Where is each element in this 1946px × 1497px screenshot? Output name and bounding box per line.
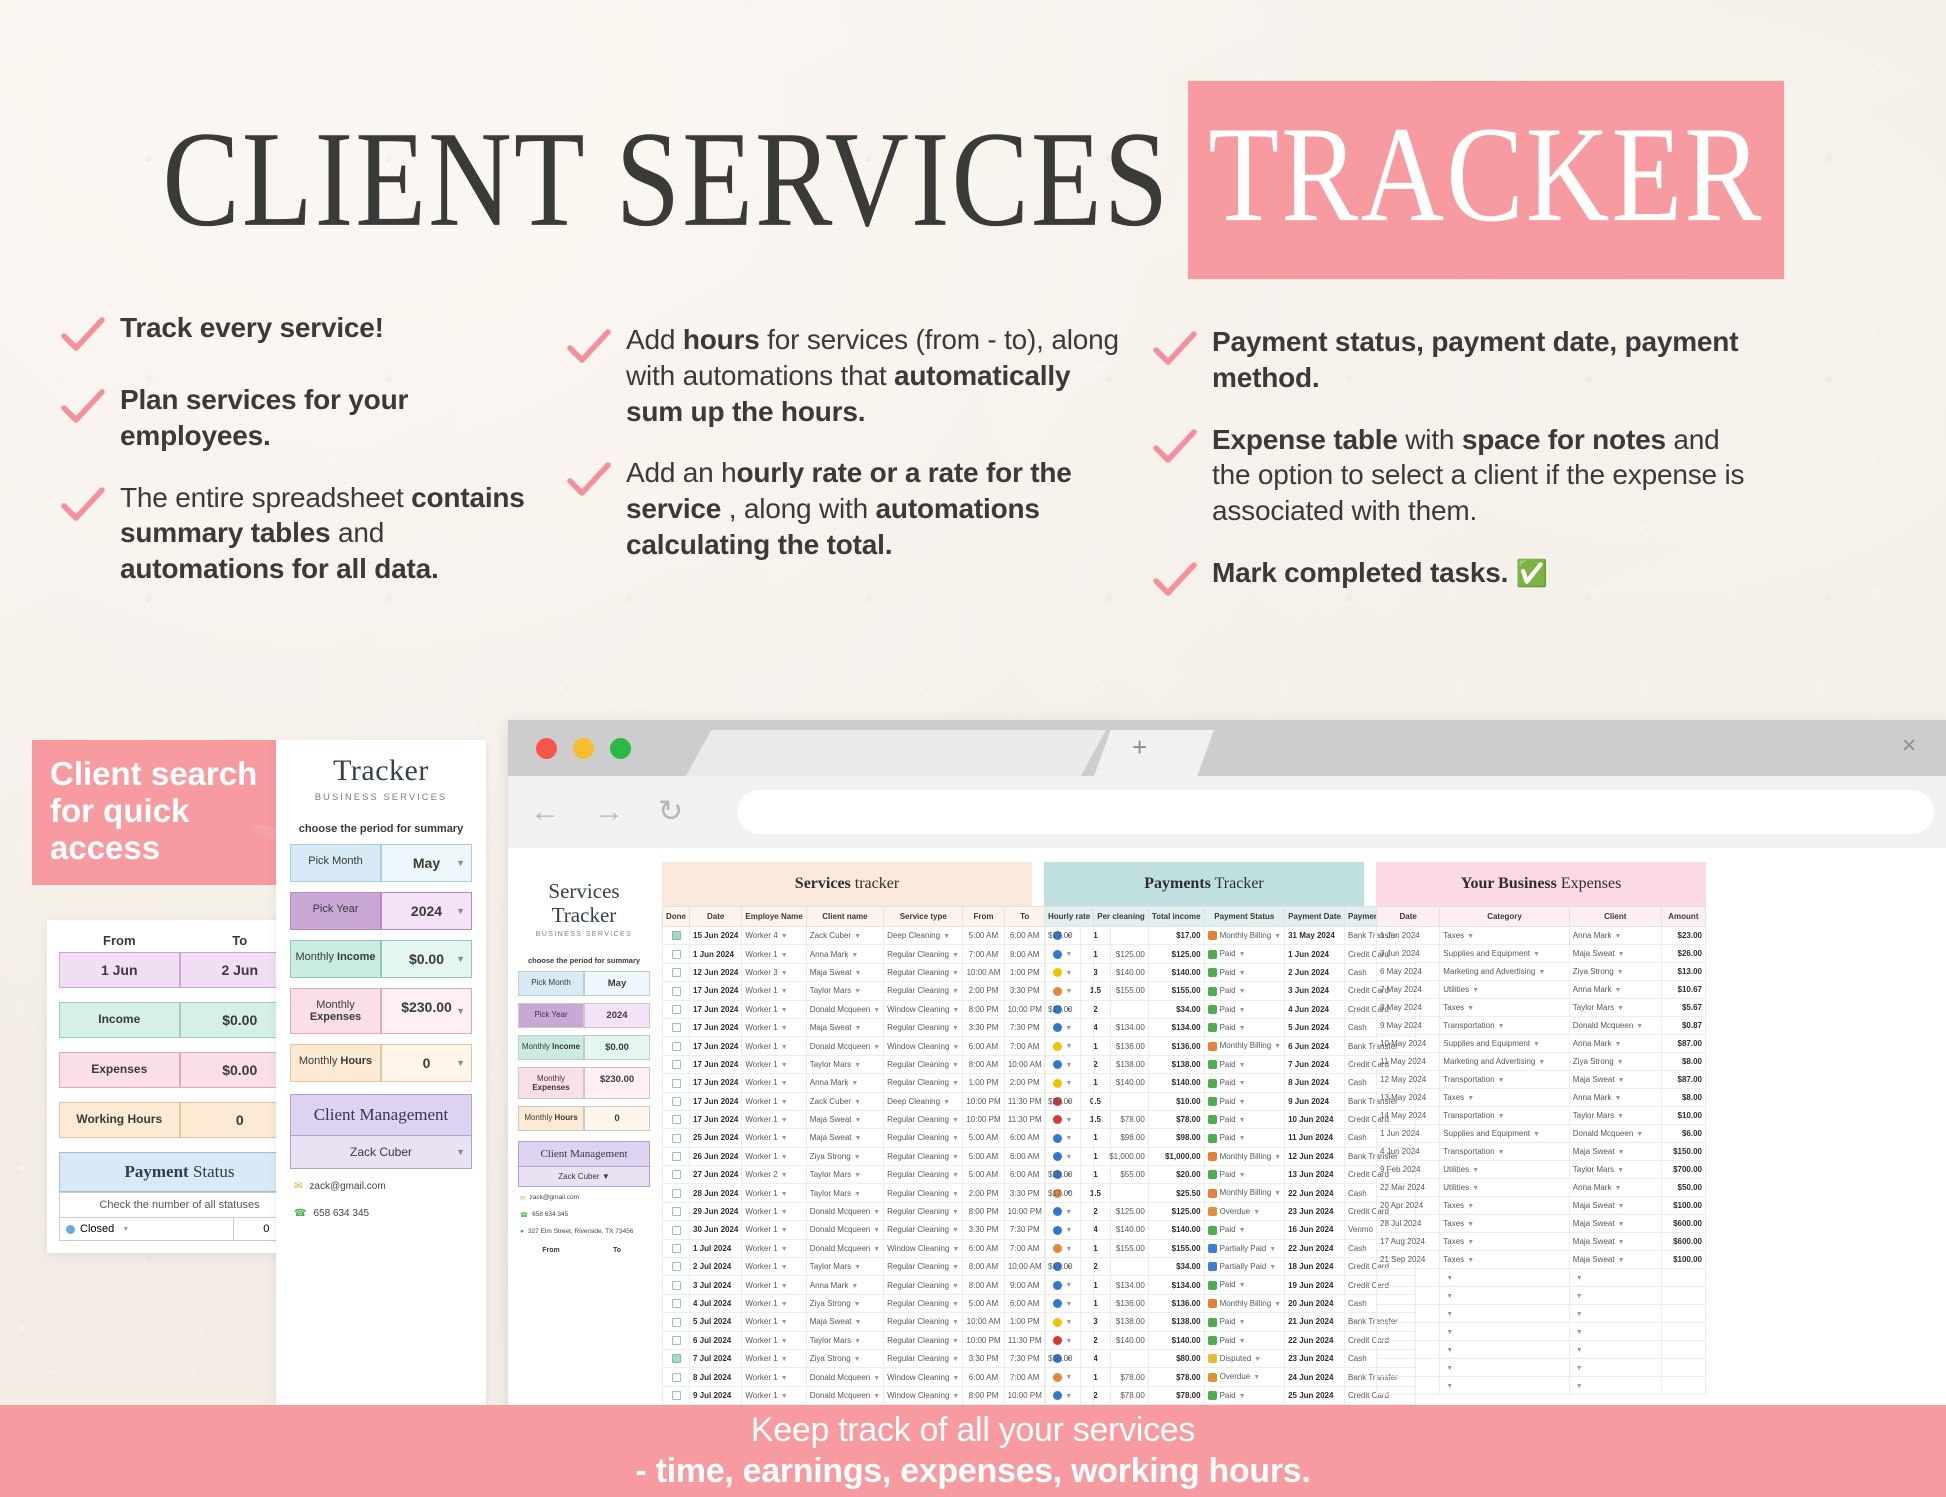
table-row[interactable]: ▼▼ — [1377, 1269, 1706, 1287]
employee-name[interactable]: Worker 1▼ — [742, 1092, 806, 1110]
service-type[interactable]: Regular Cleaning▼ — [884, 1221, 963, 1239]
status-badge-icon — [1208, 1097, 1217, 1106]
employee-name[interactable]: Worker 1▼ — [742, 1221, 806, 1239]
expenses-table-title: Your Business Expenses — [1376, 862, 1706, 906]
table-row[interactable]: 13 May 2024Taxes▼Anna Mark▼$8.00 — [1377, 1089, 1706, 1107]
employee-name[interactable]: Worker 1▼ — [742, 945, 806, 963]
table-row[interactable]: $30.00$80.00Disputed▼23 Jun 2024Cash — [1045, 1349, 1416, 1367]
client-name[interactable]: Taylor Mars▼ — [806, 982, 883, 1000]
done-checkbox[interactable] — [663, 1202, 690, 1220]
employee-name[interactable]: Worker 2▼ — [742, 1166, 806, 1184]
payment-date: 9 Jun 2024 — [1285, 1092, 1345, 1110]
client-name[interactable]: Donald Mcqueen▼ — [806, 1000, 883, 1018]
tracker-row-label: Monthly Income — [290, 940, 381, 978]
client-name[interactable]: Taylor Mars▼ — [806, 1331, 883, 1349]
payment-status[interactable]: Paid▼ — [1204, 1386, 1285, 1404]
table-row[interactable]: $78.00$78.00Paid▼10 Jun 2024Credit Card — [1045, 1110, 1416, 1128]
employee-name[interactable]: Worker 1▼ — [742, 982, 806, 1000]
hourly-rate — [1045, 1331, 1094, 1349]
table-row[interactable]: $17.00$17.00Monthly Billing▼31 May 2024B… — [1045, 927, 1416, 945]
new-tab-icon[interactable]: + — [1132, 732, 1147, 763]
service-date: 2 Jul 2024 — [690, 1258, 742, 1276]
payment-date: 18 Jun 2024 — [1285, 1258, 1345, 1276]
done-checkbox[interactable] — [663, 1018, 690, 1036]
time-to: 6:00 AM — [1004, 1147, 1045, 1165]
expense-client[interactable]: Ziya Strong▼ — [1569, 1053, 1661, 1071]
employee-name[interactable]: Worker 4▼ — [742, 927, 806, 945]
expense-category[interactable]: Transportation▼ — [1440, 1107, 1570, 1125]
done-checkbox[interactable] — [663, 1239, 690, 1257]
employee-name[interactable]: Worker 1▼ — [742, 1313, 806, 1331]
done-checkbox[interactable] — [663, 963, 690, 981]
expense-category[interactable]: Transportation▼ — [1440, 1143, 1570, 1161]
client-name[interactable]: Taylor Mars▼ — [806, 1258, 883, 1276]
service-type[interactable]: Regular Cleaning▼ — [884, 982, 963, 1000]
service-date: 5 Jul 2024 — [690, 1313, 742, 1331]
employee-name[interactable]: Worker 3▼ — [742, 963, 806, 981]
payment-date: 19 Jun 2024 — [1285, 1276, 1345, 1294]
status-badge-icon — [1208, 1207, 1217, 1216]
table-row[interactable]: $140.00$140.00Paid▼2 Jun 2024Cash — [1045, 963, 1416, 981]
done-checkbox[interactable] — [663, 982, 690, 1000]
table-row[interactable]: ▼▼ — [1377, 1323, 1706, 1341]
table-row[interactable]: $125.00$125.00Paid▼1 Jun 2024Credit Card — [1045, 945, 1416, 963]
employee-name[interactable]: Worker 1▼ — [742, 1276, 806, 1294]
time-from: 7:00 AM — [963, 945, 1004, 963]
chevron-down-icon[interactable]: ▼ — [122, 1226, 129, 1233]
done-checkbox[interactable] — [663, 1147, 690, 1165]
expense-client[interactable]: Maja Sweat▼ — [1569, 1251, 1661, 1269]
payment-status[interactable]: Paid▼ — [1204, 963, 1285, 981]
employee-name[interactable]: Worker 1▼ — [742, 1294, 806, 1312]
service-type[interactable]: Window Cleaning▼ — [884, 1000, 963, 1018]
payment-status[interactable]: Paid▼ — [1204, 1000, 1285, 1018]
service-type[interactable]: Window Cleaning▼ — [884, 1037, 963, 1055]
table-row[interactable]: 14 May 2024Transportation▼Taylor Mars▼$1… — [1377, 1107, 1706, 1125]
payment-status[interactable]: Overdue▼ — [1204, 1202, 1285, 1220]
payment-status[interactable]: Paid▼ — [1204, 1166, 1285, 1184]
table-row[interactable]: $140.00$140.00Paid▼22 Jun 2024Credit Car… — [1045, 1331, 1416, 1349]
table-row[interactable]: 12 May 2024Transportation▼Maja Sweat▼$87… — [1377, 1071, 1706, 1089]
table-row[interactable]: $20.00$55.00$20.00Paid▼13 Jun 2024Credit… — [1045, 1166, 1416, 1184]
client-name[interactable]: Anna Mark▼ — [806, 1074, 883, 1092]
close-tab-icon[interactable]: × — [1902, 732, 1916, 760]
payment-status[interactable]: Partially Paid▼ — [1204, 1258, 1285, 1276]
expense-client[interactable]: Taylor Mars▼ — [1569, 1107, 1661, 1125]
done-checkbox[interactable] — [663, 1276, 690, 1294]
client-name[interactable]: Zack Cuber▼ — [806, 1092, 883, 1110]
expense-client[interactable]: Ziya Strong▼ — [1569, 963, 1661, 981]
done-checkbox[interactable] — [663, 1000, 690, 1018]
done-checkbox[interactable] — [663, 1074, 690, 1092]
expense-date: 8 May 2024 — [1377, 999, 1440, 1017]
service-type[interactable]: Regular Cleaning▼ — [884, 1110, 963, 1128]
payment-date: 24 Jun 2024 — [1285, 1368, 1345, 1386]
expense-client[interactable]: Taylor Mars▼ — [1569, 1161, 1661, 1179]
client-name[interactable]: Maja Sweat▼ — [806, 1110, 883, 1128]
expense-category[interactable]: Taxes▼ — [1440, 1089, 1570, 1107]
time-from: 8:00 AM — [963, 1258, 1004, 1276]
employee-name[interactable]: Worker 1▼ — [742, 1349, 806, 1367]
done-checkbox[interactable] — [663, 1055, 690, 1073]
done-checkbox[interactable] — [663, 1184, 690, 1202]
payment-status[interactable]: Paid▼ — [1204, 1221, 1285, 1239]
time-from: 8:00 AM — [963, 1055, 1004, 1073]
total-income: $134.00 — [1148, 1276, 1204, 1294]
table-row[interactable]: ▼▼ — [1377, 1377, 1706, 1395]
employee-name[interactable]: Worker 1▼ — [742, 1202, 806, 1220]
done-checkbox[interactable] — [663, 1037, 690, 1055]
table-row[interactable]: $17.00$34.00Partially Paid▼18 Jun 2024Cr… — [1045, 1258, 1416, 1276]
payment-status[interactable]: Monthly Billing▼ — [1204, 927, 1285, 945]
table-row[interactable]: 9 May 2024Transportation▼Donald Mcqueen▼… — [1377, 1017, 1706, 1035]
payment-status[interactable]: Paid▼ — [1204, 1110, 1285, 1128]
payment-date: 16 Jun 2024 — [1285, 1221, 1345, 1239]
total-income: $98.00 — [1148, 1129, 1204, 1147]
mini-client-management-title: Client Management — [518, 1141, 650, 1167]
table-row[interactable]: $17.00$34.00Paid▼4 Jun 2024Credit Card — [1045, 1000, 1416, 1018]
done-checkbox[interactable] — [663, 1110, 690, 1128]
expense-category[interactable]: Taxes▼ — [1440, 1197, 1570, 1215]
table-row[interactable]: 8 May 2024Taxes▼Taylor Mars▼$5.67 — [1377, 999, 1706, 1017]
service-type[interactable]: Regular Cleaning▼ — [884, 1074, 963, 1092]
payment-status[interactable]: Paid▼ — [1204, 1129, 1285, 1147]
total-income: $34.00 — [1148, 1258, 1204, 1276]
forward-icon[interactable]: → — [594, 797, 624, 827]
feature-text: Payment status, payment date, payment me… — [1212, 324, 1752, 396]
service-type[interactable]: Window Cleaning▼ — [884, 1239, 963, 1257]
payment-status[interactable]: Disputed▼ — [1204, 1349, 1285, 1367]
expense-client[interactable]: Anna Mark▼ — [1569, 927, 1661, 945]
done-checkbox[interactable] — [663, 1368, 690, 1386]
table-row[interactable]: 4 Jun 2024Transportation▼Maja Sweat▼$150… — [1377, 1143, 1706, 1161]
service-type[interactable]: Regular Cleaning▼ — [884, 1331, 963, 1349]
payment-status[interactable]: Paid▼ — [1204, 1276, 1285, 1294]
payment-status[interactable]: Paid▼ — [1204, 1074, 1285, 1092]
summary-from-value[interactable]: 1 Jun — [59, 952, 180, 988]
hourly-rate: $30.00 — [1045, 1349, 1094, 1367]
time-to: 7:00 AM — [1004, 1037, 1045, 1055]
service-type[interactable]: Regular Cleaning▼ — [884, 945, 963, 963]
table-row[interactable]: 1 Jun 2024Supplies and Equipment▼Donald … — [1377, 1125, 1706, 1143]
table-row[interactable]: $20.00$10.00Paid▼9 Jun 2024Bank Transfer — [1045, 1092, 1416, 1110]
service-date: 3 Jul 2024 — [690, 1276, 742, 1294]
service-type[interactable]: Window Cleaning▼ — [884, 1386, 963, 1404]
table-row[interactable]: $134.00$134.00Paid▼19 Jun 2024Credit Car… — [1045, 1276, 1416, 1294]
expense-category[interactable]: Utilities▼ — [1440, 981, 1570, 999]
expense-category[interactable]: Marketing and Advertising▼ — [1440, 1053, 1570, 1071]
table-row[interactable]: $155.00$155.00Paid▼3 Jun 2024Credit Card — [1045, 982, 1416, 1000]
done-checkbox[interactable] — [663, 1129, 690, 1147]
service-type[interactable]: Deep Cleaning▼ — [884, 927, 963, 945]
check-icon — [566, 461, 612, 501]
employee-name[interactable]: Worker 1▼ — [742, 1018, 806, 1036]
status-badge-icon — [1208, 1336, 1217, 1345]
expense-category[interactable]: Utilities▼ — [1440, 1179, 1570, 1197]
payment-status[interactable]: Monthly Billing▼ — [1204, 1037, 1285, 1055]
payment-status[interactable]: Monthly Billing▼ — [1204, 1294, 1285, 1312]
service-type[interactable]: Regular Cleaning▼ — [884, 1258, 963, 1276]
payment-status[interactable]: Monthly Billing▼ — [1204, 1184, 1285, 1202]
client-name[interactable]: Ziya Strong▼ — [806, 1294, 883, 1312]
table-row[interactable]: 1 Jun 2024Taxes▼Anna Mark▼$23.00 — [1377, 927, 1706, 945]
done-checkbox[interactable] — [663, 1092, 690, 1110]
table-row[interactable]: 22 Mar 2024Utilities▼Anna Mark▼$50.00 — [1377, 1179, 1706, 1197]
employee-name[interactable]: Worker 1▼ — [742, 1000, 806, 1018]
payment-date: 21 Jun 2024 — [1285, 1313, 1345, 1331]
client-name[interactable]: Anna Mark▼ — [806, 1276, 883, 1294]
time-from: 10:00 AM — [963, 963, 1004, 981]
done-checkbox[interactable] — [663, 927, 690, 945]
tracker-row: Monthly Income$0.00▼ — [290, 940, 472, 978]
client-name[interactable]: Donald Mcqueen▼ — [806, 1202, 883, 1220]
per-cleaning: $155.00 — [1094, 1239, 1149, 1257]
table-row[interactable]: 10 May 2024Supplies and Equipment▼Anna M… — [1377, 1035, 1706, 1053]
done-checkbox[interactable] — [663, 1313, 690, 1331]
expense-client[interactable]: Anna Mark▼ — [1569, 981, 1661, 999]
close-window-icon[interactable] — [536, 738, 557, 759]
status-badge-icon — [1208, 1318, 1217, 1327]
expense-date: 12 May 2024 — [1377, 1071, 1440, 1089]
done-checkbox[interactable] — [663, 945, 690, 963]
done-checkbox[interactable] — [663, 1258, 690, 1276]
table-row[interactable]: $155.00$155.00Partially Paid▼22 Jun 2024… — [1045, 1239, 1416, 1257]
service-type[interactable]: Regular Cleaning▼ — [884, 1202, 963, 1220]
expense-client[interactable]: Taylor Mars▼ — [1569, 999, 1661, 1017]
time-to: 3:30 PM — [1004, 1184, 1045, 1202]
per-cleaning: $1,000.00 — [1094, 1147, 1149, 1165]
minimize-window-icon[interactable] — [573, 738, 594, 759]
payment-status[interactable]: Monthly Billing▼ — [1204, 1147, 1285, 1165]
employee-name[interactable]: Worker 1▼ — [742, 1386, 806, 1404]
employee-name[interactable]: Worker 1▼ — [742, 1147, 806, 1165]
expense-amount: $150.00 — [1661, 1143, 1705, 1161]
expense-category[interactable]: Transportation▼ — [1440, 1071, 1570, 1089]
payment-status[interactable]: Paid▼ — [1204, 945, 1285, 963]
employee-name[interactable]: Worker 1▼ — [742, 1055, 806, 1073]
time-from: 10:00 PM — [963, 1110, 1004, 1128]
payment-status[interactable]: Paid▼ — [1204, 1018, 1285, 1036]
expense-category[interactable]: Taxes▼ — [1440, 999, 1570, 1017]
service-type[interactable]: Window Cleaning▼ — [884, 1368, 963, 1386]
table-row[interactable]: 20 Apr 2024Taxes▼Maja Sweat▼$100.00 — [1377, 1197, 1706, 1215]
table-row[interactable]: ▼▼ — [1377, 1287, 1706, 1305]
employee-name[interactable]: Worker 1▼ — [742, 1074, 806, 1092]
payment-status[interactable]: Overdue▼ — [1204, 1368, 1285, 1386]
client-name[interactable]: Donald Mcqueen▼ — [806, 1386, 883, 1404]
expense-client[interactable]: Donald Mcqueen▼ — [1569, 1125, 1661, 1143]
mini-title: ServicesTracker — [518, 880, 650, 927]
employee-name[interactable]: Worker 1▼ — [742, 1258, 806, 1276]
done-checkbox[interactable] — [663, 1166, 690, 1184]
expense-category[interactable]: Marketing and Advertising▼ — [1440, 963, 1570, 981]
table-row[interactable]: ▼▼ — [1377, 1359, 1706, 1377]
expense-client[interactable]: Anna Mark▼ — [1569, 1089, 1661, 1107]
total-income: $134.00 — [1148, 1018, 1204, 1036]
table-row[interactable]: 3 Jun 2024Supplies and Equipment▼Maja Sw… — [1377, 945, 1706, 963]
table-row[interactable]: $136.00$136.00Monthly Billing▼6 Jun 2024… — [1045, 1037, 1416, 1055]
table-row[interactable]: 7 May 2024Utilities▼Anna Mark▼$10.67 — [1377, 981, 1706, 999]
check-icon — [1152, 561, 1198, 601]
table-row[interactable]: $138.00$138.00Paid▼7 Jun 2024Credit Card — [1045, 1055, 1416, 1073]
service-type[interactable]: Regular Cleaning▼ — [884, 963, 963, 981]
expense-category[interactable]: Transportation▼ — [1440, 1017, 1570, 1035]
table-row[interactable]: $78.00$78.00Overdue▼24 Jun 2024Bank Tran… — [1045, 1368, 1416, 1386]
client-name[interactable]: Maja Sweat▼ — [806, 1129, 883, 1147]
tracker-row-value[interactable]: $230.00▼ — [381, 988, 472, 1034]
done-checkbox[interactable] — [663, 1349, 690, 1367]
expense-category[interactable]: Taxes▼ — [1440, 1233, 1570, 1251]
column-header: Client name — [806, 907, 883, 927]
service-type[interactable]: Regular Cleaning▼ — [884, 1184, 963, 1202]
client-name[interactable]: Taylor Mars▼ — [806, 1166, 883, 1184]
service-type[interactable]: Regular Cleaning▼ — [884, 1313, 963, 1331]
employee-name[interactable]: Worker 1▼ — [742, 1239, 806, 1257]
feature-text: Expense table with space for notes and t… — [1212, 422, 1752, 529]
client-name[interactable]: Donald Mcqueen▼ — [806, 1037, 883, 1055]
expense-category[interactable]: Supplies and Equipment▼ — [1440, 945, 1570, 963]
table-row[interactable]: $1,000.00$1,000.00Monthly Billing▼12 Jun… — [1045, 1147, 1416, 1165]
expense-category[interactable]: Taxes▼ — [1440, 1215, 1570, 1233]
expense-client[interactable]: Maja Sweat▼ — [1569, 1197, 1661, 1215]
new-tab-shape[interactable] — [1094, 730, 1214, 776]
employee-name[interactable]: Worker 1▼ — [742, 1110, 806, 1128]
table-row[interactable]: 17 Aug 2024Taxes▼Maja Sweat▼$600.00 — [1377, 1233, 1706, 1251]
tracker-row-value[interactable]: May▼ — [381, 844, 472, 882]
expense-category[interactable]: Taxes▼ — [1440, 1251, 1570, 1269]
browser-tab[interactable] — [686, 730, 1106, 776]
client-select[interactable]: Zack Cuber▼ — [290, 1136, 472, 1169]
tracker-row-value[interactable]: $0.00▼ — [381, 940, 472, 978]
service-type[interactable]: Regular Cleaning▼ — [884, 1129, 963, 1147]
payment-date: 23 Jun 2024 — [1285, 1202, 1345, 1220]
table-row[interactable]: 28 Jul 2024Taxes▼Maja Sweat▼$600.00 — [1377, 1215, 1706, 1233]
expense-client[interactable]: Anna Mark▼ — [1569, 1035, 1661, 1053]
client-name[interactable]: Taylor Mars▼ — [806, 1184, 883, 1202]
table-row[interactable]: ▼▼ — [1377, 1341, 1706, 1359]
client-name[interactable]: Ziya Strong▼ — [806, 1147, 883, 1165]
expense-category[interactable]: Supplies and Equipment▼ — [1440, 1125, 1570, 1143]
payment-status[interactable]: Partially Paid▼ — [1204, 1239, 1285, 1257]
table-row[interactable]: 9 Feb 2024Utilities▼Taylor Mars▼$700.00 — [1377, 1161, 1706, 1179]
address-bar[interactable] — [737, 790, 1934, 834]
expense-category[interactable]: Utilities▼ — [1440, 1161, 1570, 1179]
payment-status[interactable]: Paid▼ — [1204, 1331, 1285, 1349]
client-name[interactable]: Taylor Mars▼ — [806, 1055, 883, 1073]
mini-client-select[interactable]: Zack Cuber ▼ — [518, 1167, 650, 1187]
service-date: 4 Jul 2024 — [690, 1294, 742, 1312]
client-name[interactable]: Maja Sweat▼ — [806, 963, 883, 981]
done-checkbox[interactable] — [663, 1331, 690, 1349]
service-type[interactable]: Regular Cleaning▼ — [884, 1147, 963, 1165]
hourly-rate: $17.00 — [1045, 927, 1094, 945]
tracker-row-value[interactable]: 2024▼ — [381, 892, 472, 930]
table-row[interactable]: 21 Sep 2024Taxes▼Maja Sweat▼$100.00 — [1377, 1251, 1706, 1269]
table-row[interactable]: ▼▼ — [1377, 1305, 1706, 1323]
tracker-row-value[interactable]: 0▼ — [381, 1044, 472, 1082]
expense-category[interactable]: Supplies and Equipment▼ — [1440, 1035, 1570, 1053]
service-type[interactable]: Regular Cleaning▼ — [884, 1276, 963, 1294]
client-name[interactable]: Donald Mcqueen▼ — [806, 1368, 883, 1386]
service-type[interactable]: Regular Cleaning▼ — [884, 1055, 963, 1073]
status-badge-icon — [1208, 1115, 1217, 1124]
table-row[interactable]: $138.00$138.00Paid▼21 Jun 2024Bank Trans… — [1045, 1313, 1416, 1331]
expense-amount: $8.00 — [1661, 1089, 1705, 1107]
hourly-rate: $17.00 — [1045, 1258, 1094, 1276]
employee-name[interactable]: Worker 1▼ — [742, 1129, 806, 1147]
time-from: 8:00 PM — [963, 1000, 1004, 1018]
back-icon[interactable]: ← — [530, 797, 560, 827]
payment-status[interactable]: Paid▼ — [1204, 1055, 1285, 1073]
done-checkbox[interactable] — [663, 1221, 690, 1239]
expense-category[interactable]: Taxes▼ — [1440, 927, 1570, 945]
table-row[interactable]: $136.00$136.00Monthly Billing▼20 Jun 202… — [1045, 1294, 1416, 1312]
table-row[interactable]: $78.00$78.00Paid▼25 Jun 2024Credit Card — [1045, 1386, 1416, 1404]
maximize-window-icon[interactable] — [610, 738, 631, 759]
table-row[interactable]: $125.00$125.00Overdue▼23 Jun 2024Credit … — [1045, 1202, 1416, 1220]
client-name[interactable]: Ziya Strong▼ — [806, 1349, 883, 1367]
employee-name[interactable]: Worker 1▼ — [742, 1184, 806, 1202]
expense-client[interactable]: Maja Sweat▼ — [1569, 1143, 1661, 1161]
service-type[interactable]: Deep Cleaning▼ — [884, 1092, 963, 1110]
client-name[interactable]: Zack Cuber▼ — [806, 927, 883, 945]
payment-status[interactable]: Paid▼ — [1204, 1313, 1285, 1331]
done-checkbox[interactable] — [663, 1386, 690, 1404]
table-row[interactable]: $140.00$140.00Paid▼8 Jun 2024Cash — [1045, 1074, 1416, 1092]
expense-client[interactable]: Maja Sweat▼ — [1569, 1071, 1661, 1089]
table-row[interactable]: $98.00$98.00Paid▼11 Jun 2024Cash — [1045, 1129, 1416, 1147]
mini-period-headers: FromTo — [518, 1247, 650, 1254]
per-cleaning — [1094, 1349, 1149, 1367]
chevron-down-icon: ▼ — [456, 1058, 465, 1068]
table-row[interactable]: 6 May 2024Marketing and Advertising▼Ziya… — [1377, 963, 1706, 981]
column-header: Date — [1377, 907, 1440, 927]
employee-name[interactable]: Worker 1▼ — [742, 1368, 806, 1386]
window-controls[interactable] — [536, 738, 631, 759]
total-income: $125.00 — [1148, 1202, 1204, 1220]
payment-status[interactable]: Paid▼ — [1204, 1092, 1285, 1110]
check-icon — [60, 316, 106, 356]
employee-name[interactable]: Worker 1▼ — [742, 1037, 806, 1055]
time-from: 5:00 AM — [963, 1166, 1004, 1184]
employee-name[interactable]: Worker 1▼ — [742, 1331, 806, 1349]
feature-column-1: Track every service!Plan services for yo… — [60, 310, 540, 627]
reload-icon[interactable]: ↻ — [658, 797, 683, 827]
expense-client[interactable]: Maja Sweat▼ — [1569, 945, 1661, 963]
client-name[interactable]: Maja Sweat▼ — [806, 1313, 883, 1331]
payment-status[interactable]: Paid▼ — [1204, 982, 1285, 1000]
expense-client[interactable]: Maja Sweat▼ — [1569, 1215, 1661, 1233]
table-row[interactable]: $134.00$134.00Paid▼5 Jun 2024Cash — [1045, 1018, 1416, 1036]
table-row[interactable]: 11 May 2024Marketing and Advertising▼Ziy… — [1377, 1053, 1706, 1071]
client-name[interactable]: Donald Mcqueen▼ — [806, 1239, 883, 1257]
column-header: Hourly rate — [1045, 907, 1094, 927]
expense-client[interactable]: Donald Mcqueen▼ — [1569, 1017, 1661, 1035]
client-name[interactable]: Donald Mcqueen▼ — [806, 1221, 883, 1239]
service-type[interactable]: Regular Cleaning▼ — [884, 1018, 963, 1036]
client-name[interactable]: Maja Sweat▼ — [806, 1018, 883, 1036]
table-row[interactable]: $140.00$140.00Paid▼16 Jun 2024Venmo — [1045, 1221, 1416, 1239]
column-header: Per cleaning — [1094, 907, 1149, 927]
done-checkbox[interactable] — [663, 1294, 690, 1312]
client-name[interactable]: Anna Mark▼ — [806, 945, 883, 963]
expense-client[interactable]: Maja Sweat▼ — [1569, 1233, 1661, 1251]
service-type[interactable]: Regular Cleaning▼ — [884, 1166, 963, 1184]
service-type[interactable]: Regular Cleaning▼ — [884, 1294, 963, 1312]
service-type[interactable]: Regular Cleaning▼ — [884, 1349, 963, 1367]
table-row[interactable]: $17.00$25.50Monthly Billing▼22 Jun 2024C… — [1045, 1184, 1416, 1202]
expense-client[interactable]: Anna Mark▼ — [1569, 1179, 1661, 1197]
